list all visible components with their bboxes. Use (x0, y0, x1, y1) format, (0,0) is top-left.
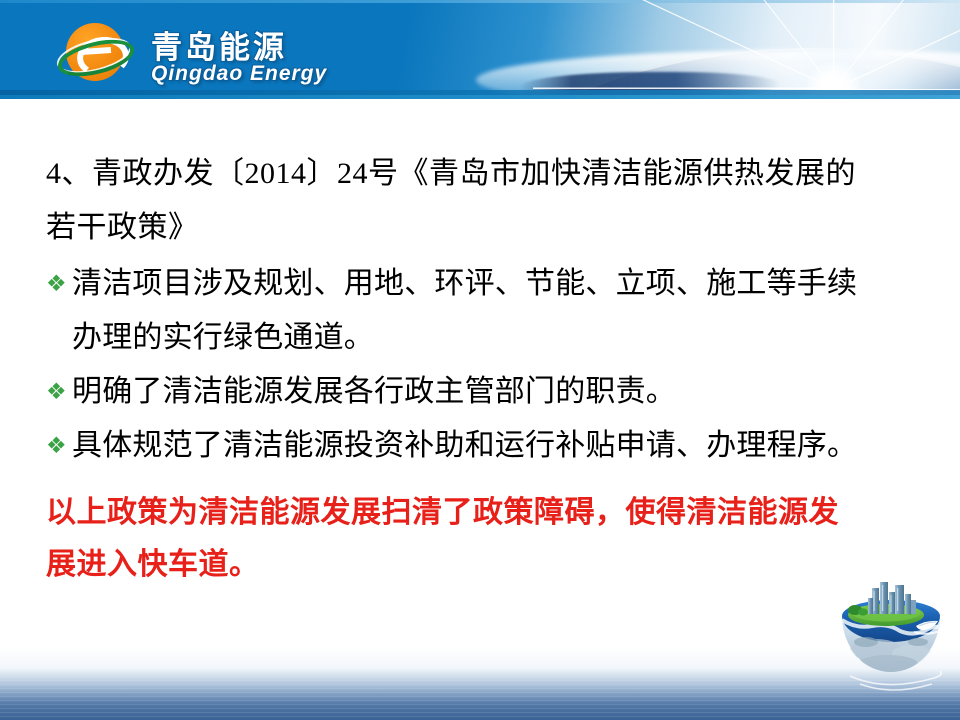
water-shimmer-texture (0, 680, 960, 720)
sunburst-ray (533, 88, 833, 90)
slide-canvas: 青岛能源 Qingdao Energy 4、青政办发〔2014〕24号《青岛市加… (0, 0, 960, 720)
policy-title-paragraph: 4、青政办发〔2014〕24号《青岛市加快清洁能源供热发展的 若干政策》 (46, 147, 926, 255)
bullet-item-1-text: 清洁项目涉及规划、用地、环评、节能、立项、施工等手续 办理的实行绿色通道。 (72, 257, 936, 365)
water-swirl-shape (850, 671, 941, 690)
conclusion-line-1: 以上政策为清洁能源发展扫清了政策障碍，使得清洁能源发 (46, 487, 936, 539)
logo-text-chinese: 青岛能源 (151, 22, 287, 67)
policy-title-line-1: 4、青政办发〔2014〕24号《青岛市加快清洁能源供热发展的 (46, 147, 926, 201)
bullet-1-line-1: 清洁项目涉及规划、用地、环评、节能、立项、施工等手续 (72, 257, 936, 311)
diamond-bullet-icon: ❖ (46, 257, 72, 311)
bullet-item-3: ❖ 具体规范了清洁能源投资补助和运行补贴申请、办理程序。 (46, 419, 936, 473)
sunburst-ray (833, 0, 834, 89)
brand-logo[interactable]: 青岛能源 Qingdao Energy (47, 18, 377, 90)
bullet-item-3-text: 具体规范了清洁能源投资补助和运行补贴申请、办理程序。 (72, 419, 936, 473)
policy-title-line-2: 若干政策》 (46, 201, 926, 255)
bullet-item-2-text: 明确了清洁能源发展各行政主管部门的职责。 (72, 365, 936, 419)
bullet-2-line-1: 明确了清洁能源发展各行政主管部门的职责。 (72, 365, 936, 419)
header-banner: 青岛能源 Qingdao Energy (0, 0, 960, 99)
bullet-1-line-2: 办理的实行绿色通道。 (72, 311, 936, 365)
bullet-item-2: ❖ 明确了清洁能源发展各行政主管部门的职责。 (46, 365, 936, 419)
city-skyline-icon (868, 582, 916, 614)
diamond-bullet-icon: ❖ (46, 365, 72, 419)
eco-city-globe-illustration-icon (826, 580, 956, 698)
slide-content: 4、青政办发〔2014〕24号《青岛市加快清洁能源供热发展的 若干政策》 ❖ 清… (0, 99, 960, 720)
diamond-bullet-icon: ❖ (46, 419, 72, 473)
conclusion-line-2: 展进入快车道。 (46, 539, 936, 591)
bullet-3-line-1: 具体规范了清洁能源投资补助和运行补贴申请、办理程序。 (72, 419, 936, 473)
logo-text-english: Qingdao Energy (151, 62, 327, 86)
bullet-item-1: ❖ 清洁项目涉及规划、用地、环评、节能、立项、施工等手续 办理的实行绿色通道。 (46, 257, 936, 365)
conclusion-paragraph: 以上政策为清洁能源发展扫清了政策障碍，使得清洁能源发 展进入快车道。 (46, 487, 936, 591)
banner-top-rule (0, 0, 960, 3)
logo-mark-icon (57, 20, 127, 90)
footer-water-gradient (0, 648, 960, 720)
